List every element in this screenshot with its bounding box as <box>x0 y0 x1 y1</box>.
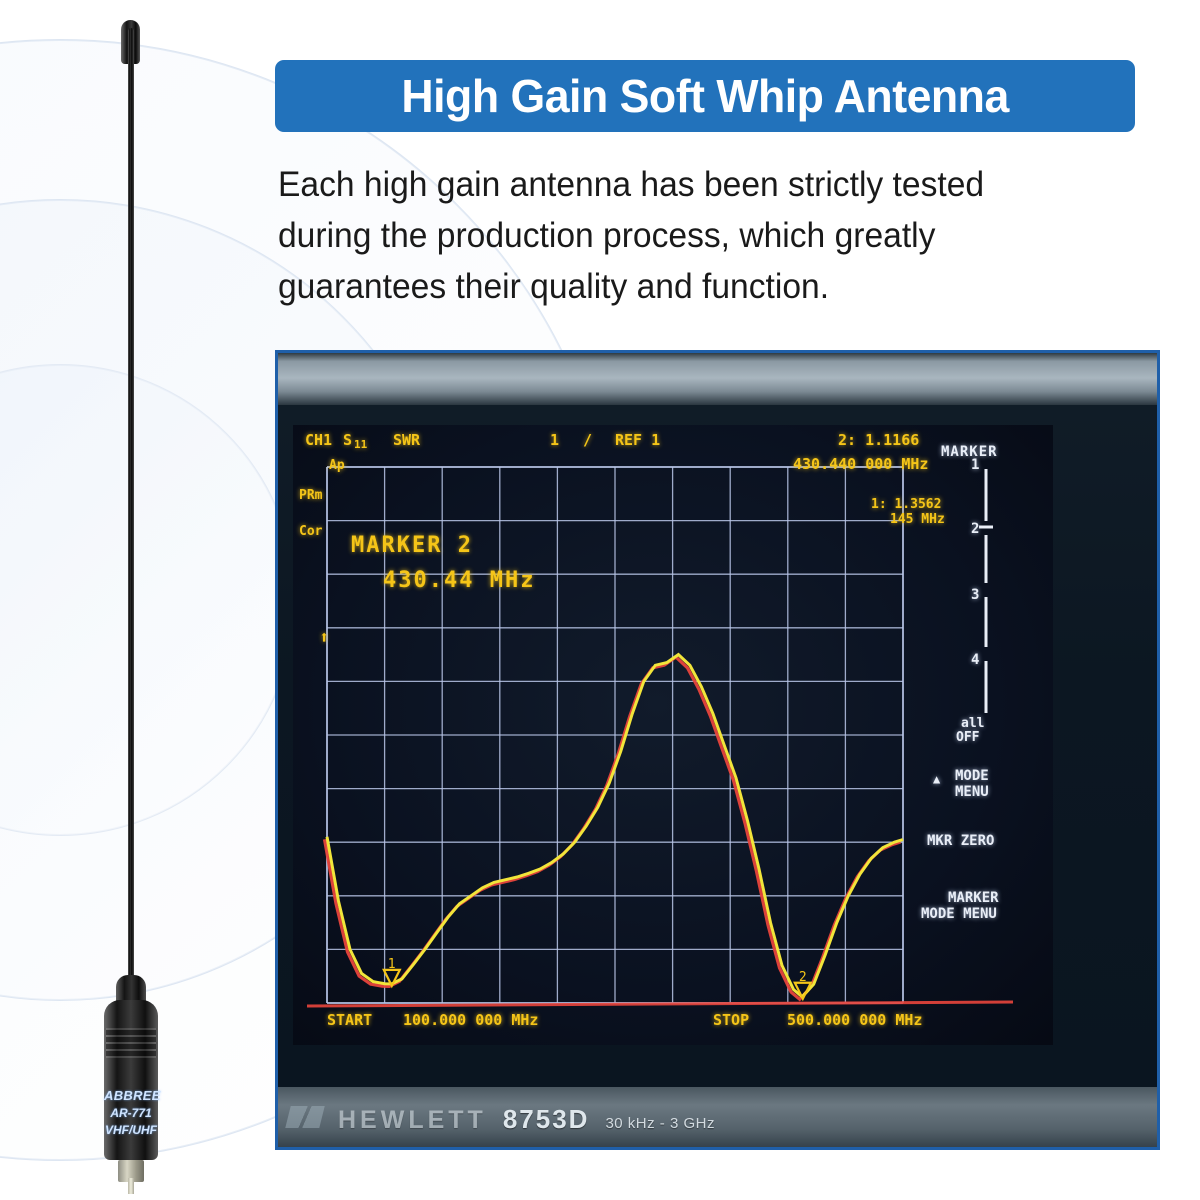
page-title: High Gain Soft Whip Antenna <box>401 69 1008 123</box>
crt-display: 21 CH1 S 11 SWR 1 / REF 1 2: 1.1166 430.… <box>293 425 1053 1045</box>
sweep-stop-value: 500.000 000 MHz <box>787 1013 922 1028</box>
sweep-stop-label: STOP <box>713 1013 749 1028</box>
antenna-model-text: AR-771 <box>104 1106 158 1120</box>
marker2-frequency-readout: 430.440 000 MHz <box>793 457 928 472</box>
antenna-product-image: ABBREE AR-771 VHF/UHF <box>0 0 270 1200</box>
marker1-value-readout: 1: 1.3562 <box>871 498 941 511</box>
sweep-start-label: START <box>327 1013 372 1028</box>
antenna-brand-label: ABBREE AR-771 VHF/UHF <box>104 1088 158 1137</box>
svg-text:1: 1 <box>388 957 396 972</box>
status-reference: REF 1 <box>615 433 660 448</box>
description-line-3: guarantees their quality and function. <box>278 262 1132 313</box>
softkey-mkr-zero[interactable]: MKR ZERO <box>927 834 994 848</box>
swr-trace-memory <box>325 657 901 999</box>
status-slash: / <box>583 433 592 448</box>
description-line-2: during the production process, which gre… <box>278 211 1132 262</box>
svg-text:2: 2 <box>799 970 807 985</box>
status-format: SWR <box>393 433 420 448</box>
instrument-branding: HEWLETT 8753D 30 kHz - 3 GHz <box>288 1104 715 1135</box>
antenna-bands-text: VHF/UHF <box>104 1123 158 1137</box>
sweep-start-value: 100.000 000 MHz <box>403 1013 538 1028</box>
instrument-frequency-range: 30 kHz - 3 GHz <box>605 1115 715 1132</box>
instrument-top-bezel <box>278 353 1157 405</box>
softkey-marker-mode-menu-line2[interactable]: MODE MENU <box>921 907 997 921</box>
hp-logo-icon <box>285 1106 324 1128</box>
product-description: Each high gain antenna has been strictly… <box>278 160 1132 312</box>
content-column: High Gain Soft Whip Antenna Each high ga… <box>270 0 1200 1200</box>
antenna-grip-ribs <box>106 1028 156 1058</box>
status-channel: CH1 <box>305 433 332 448</box>
label-correction: Cor <box>299 525 322 538</box>
antenna-brand-text: ABBREE <box>104 1088 158 1103</box>
status-parameter-subscript: 11 <box>354 439 367 450</box>
softkey-menu-title: MARKER <box>941 445 998 459</box>
softkey-marker-mode-menu-line1[interactable]: MARKER <box>948 891 999 905</box>
softkey-mode-menu-line1[interactable]: MODE <box>955 769 989 783</box>
status-scale: 1 <box>550 433 559 448</box>
antenna-connector-pin <box>128 1178 134 1194</box>
status-parameter: S <box>343 433 352 448</box>
active-marker-frequency: 430.44 MHz <box>383 570 535 592</box>
softkey-selector-rail <box>979 465 993 735</box>
active-marker-title: MARKER 2 <box>351 535 473 557</box>
network-analyzer-photo: 21 CH1 S 11 SWR 1 / REF 1 2: 1.1166 430.… <box>275 350 1160 1150</box>
plot-markers: 21 <box>384 957 811 999</box>
instrument-model: 8753D <box>503 1104 590 1135</box>
marker1-frequency-readout: 145 MHz <box>890 513 945 526</box>
label-prm: PRm <box>299 489 322 502</box>
up-arrow-icon: ▲ <box>933 773 940 785</box>
label-averaging: Ap <box>329 459 345 472</box>
page-title-badge: High Gain Soft Whip Antenna <box>275 60 1135 132</box>
instrument-bottom-bezel: HEWLETT 8753D 30 kHz - 3 GHz <box>278 1087 1157 1147</box>
softkey-mode-menu-line2[interactable]: MENU <box>955 785 989 799</box>
antenna-whip-rod <box>128 28 134 1008</box>
instrument-vendor: HEWLETT <box>338 1106 487 1135</box>
active-entry-arrow-icon: ⬆ <box>319 630 329 647</box>
softkey-all-off-line2[interactable]: OFF <box>956 731 979 744</box>
description-line-1: Each high gain antenna has been strictly… <box>278 160 1132 211</box>
marker2-value-readout: 2: 1.1166 <box>838 433 919 448</box>
